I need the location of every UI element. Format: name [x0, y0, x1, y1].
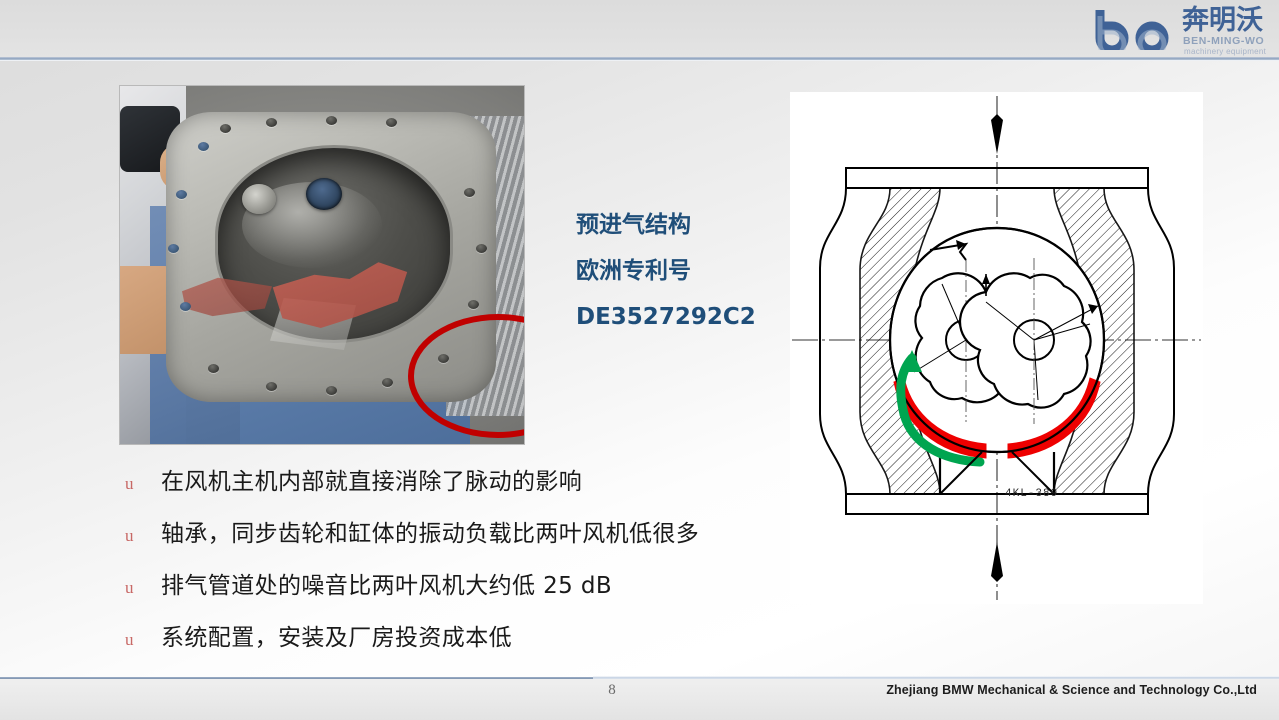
photo-bolt-hole [220, 124, 231, 133]
photo-bolt-hole [476, 244, 487, 253]
bullet-marker-icon: u [122, 578, 161, 598]
photo-shaft-bore-right [306, 178, 342, 210]
photo-shaft-bore-left [242, 184, 276, 214]
photo-bolt-hole [180, 302, 191, 311]
bullet-item: u 轴承，同步齿轮和缸体的振动负载比两叶风机低很多 [122, 514, 782, 566]
photo-bolt-hole [326, 386, 337, 395]
bullet-item: u 排气管道处的噪音比两叶风机大约低 25 dB [122, 566, 782, 618]
footer-company-name: Zhejiang BMW Mechanical & Science and Te… [886, 683, 1257, 697]
company-logo: 奔明沃 BEN-MING-WO machinery equipment [1094, 6, 1272, 56]
photo-bolt-hole [168, 244, 179, 253]
bullet-text: 系统配置，安装及厂房投资成本低 [161, 618, 512, 652]
right-outer-wall [1148, 188, 1174, 494]
bullet-item: u 系统配置，安装及厂房投资成本低 [122, 618, 782, 670]
tri-lobe-blower-diagram [790, 92, 1203, 604]
photo-bolt-hole [464, 188, 475, 197]
logo-tagline: machinery equipment [1184, 47, 1266, 56]
bullet-text: 排气管道处的噪音比两叶风机大约低 25 dB [161, 566, 612, 600]
photo-bolt-hole [198, 142, 209, 151]
headline-line-1: 预进气结构 [576, 202, 816, 248]
headline-line-2: 欧洲专利号 [576, 248, 816, 294]
bullet-marker-icon: u [122, 630, 161, 650]
blower-casing-photo [120, 86, 524, 444]
photo-bolt-hole [266, 382, 277, 391]
header-band [0, 0, 1279, 58]
header-divider-highlight [0, 60, 1279, 61]
photo-bolt-hole [386, 118, 397, 127]
photo-bolt-hole [382, 378, 393, 387]
bullet-list: u 在风机主机内部就直接消除了脉动的影响 u 轴承，同步齿轮和缸体的振动负载比两… [122, 462, 782, 670]
headline-line-3: DE3527292C2 [576, 294, 816, 340]
logo-name-en: BEN-MING-WO [1183, 35, 1264, 47]
bullet-text: 轴承，同步齿轮和缸体的振动负载比两叶风机低很多 [161, 514, 699, 548]
bullet-marker-icon: u [122, 526, 161, 546]
slide: 奔明沃 BEN-MING-WO machinery equipment [0, 0, 1279, 720]
left-outer-wall [820, 188, 846, 494]
bullet-text: 在风机主机内部就直接消除了脉动的影响 [161, 462, 582, 496]
headline-block: 预进气结构 欧洲专利号 DE3527292C2 [576, 202, 816, 340]
logo-name-cn: 奔明沃 [1182, 6, 1263, 36]
bo-monogram-icon [1094, 8, 1180, 50]
photo-bolt-hole [208, 364, 219, 373]
photo-bolt-hole [266, 118, 277, 127]
diagram-svg [790, 92, 1203, 604]
photo-bolt-hole [176, 190, 187, 199]
bullet-item: u 在风机主机内部就直接消除了脉动的影响 [122, 462, 782, 514]
inlet-flow-arrow-icon [991, 114, 1003, 154]
photo-bolt-hole [326, 116, 337, 125]
outlet-flow-arrow-icon [991, 542, 1003, 582]
page-number: 8 [595, 682, 629, 699]
photo-bolt-hole [468, 300, 479, 309]
bullet-marker-icon: u [122, 474, 161, 494]
diagram-drawing-number: 4KL-389 [1005, 488, 1058, 500]
